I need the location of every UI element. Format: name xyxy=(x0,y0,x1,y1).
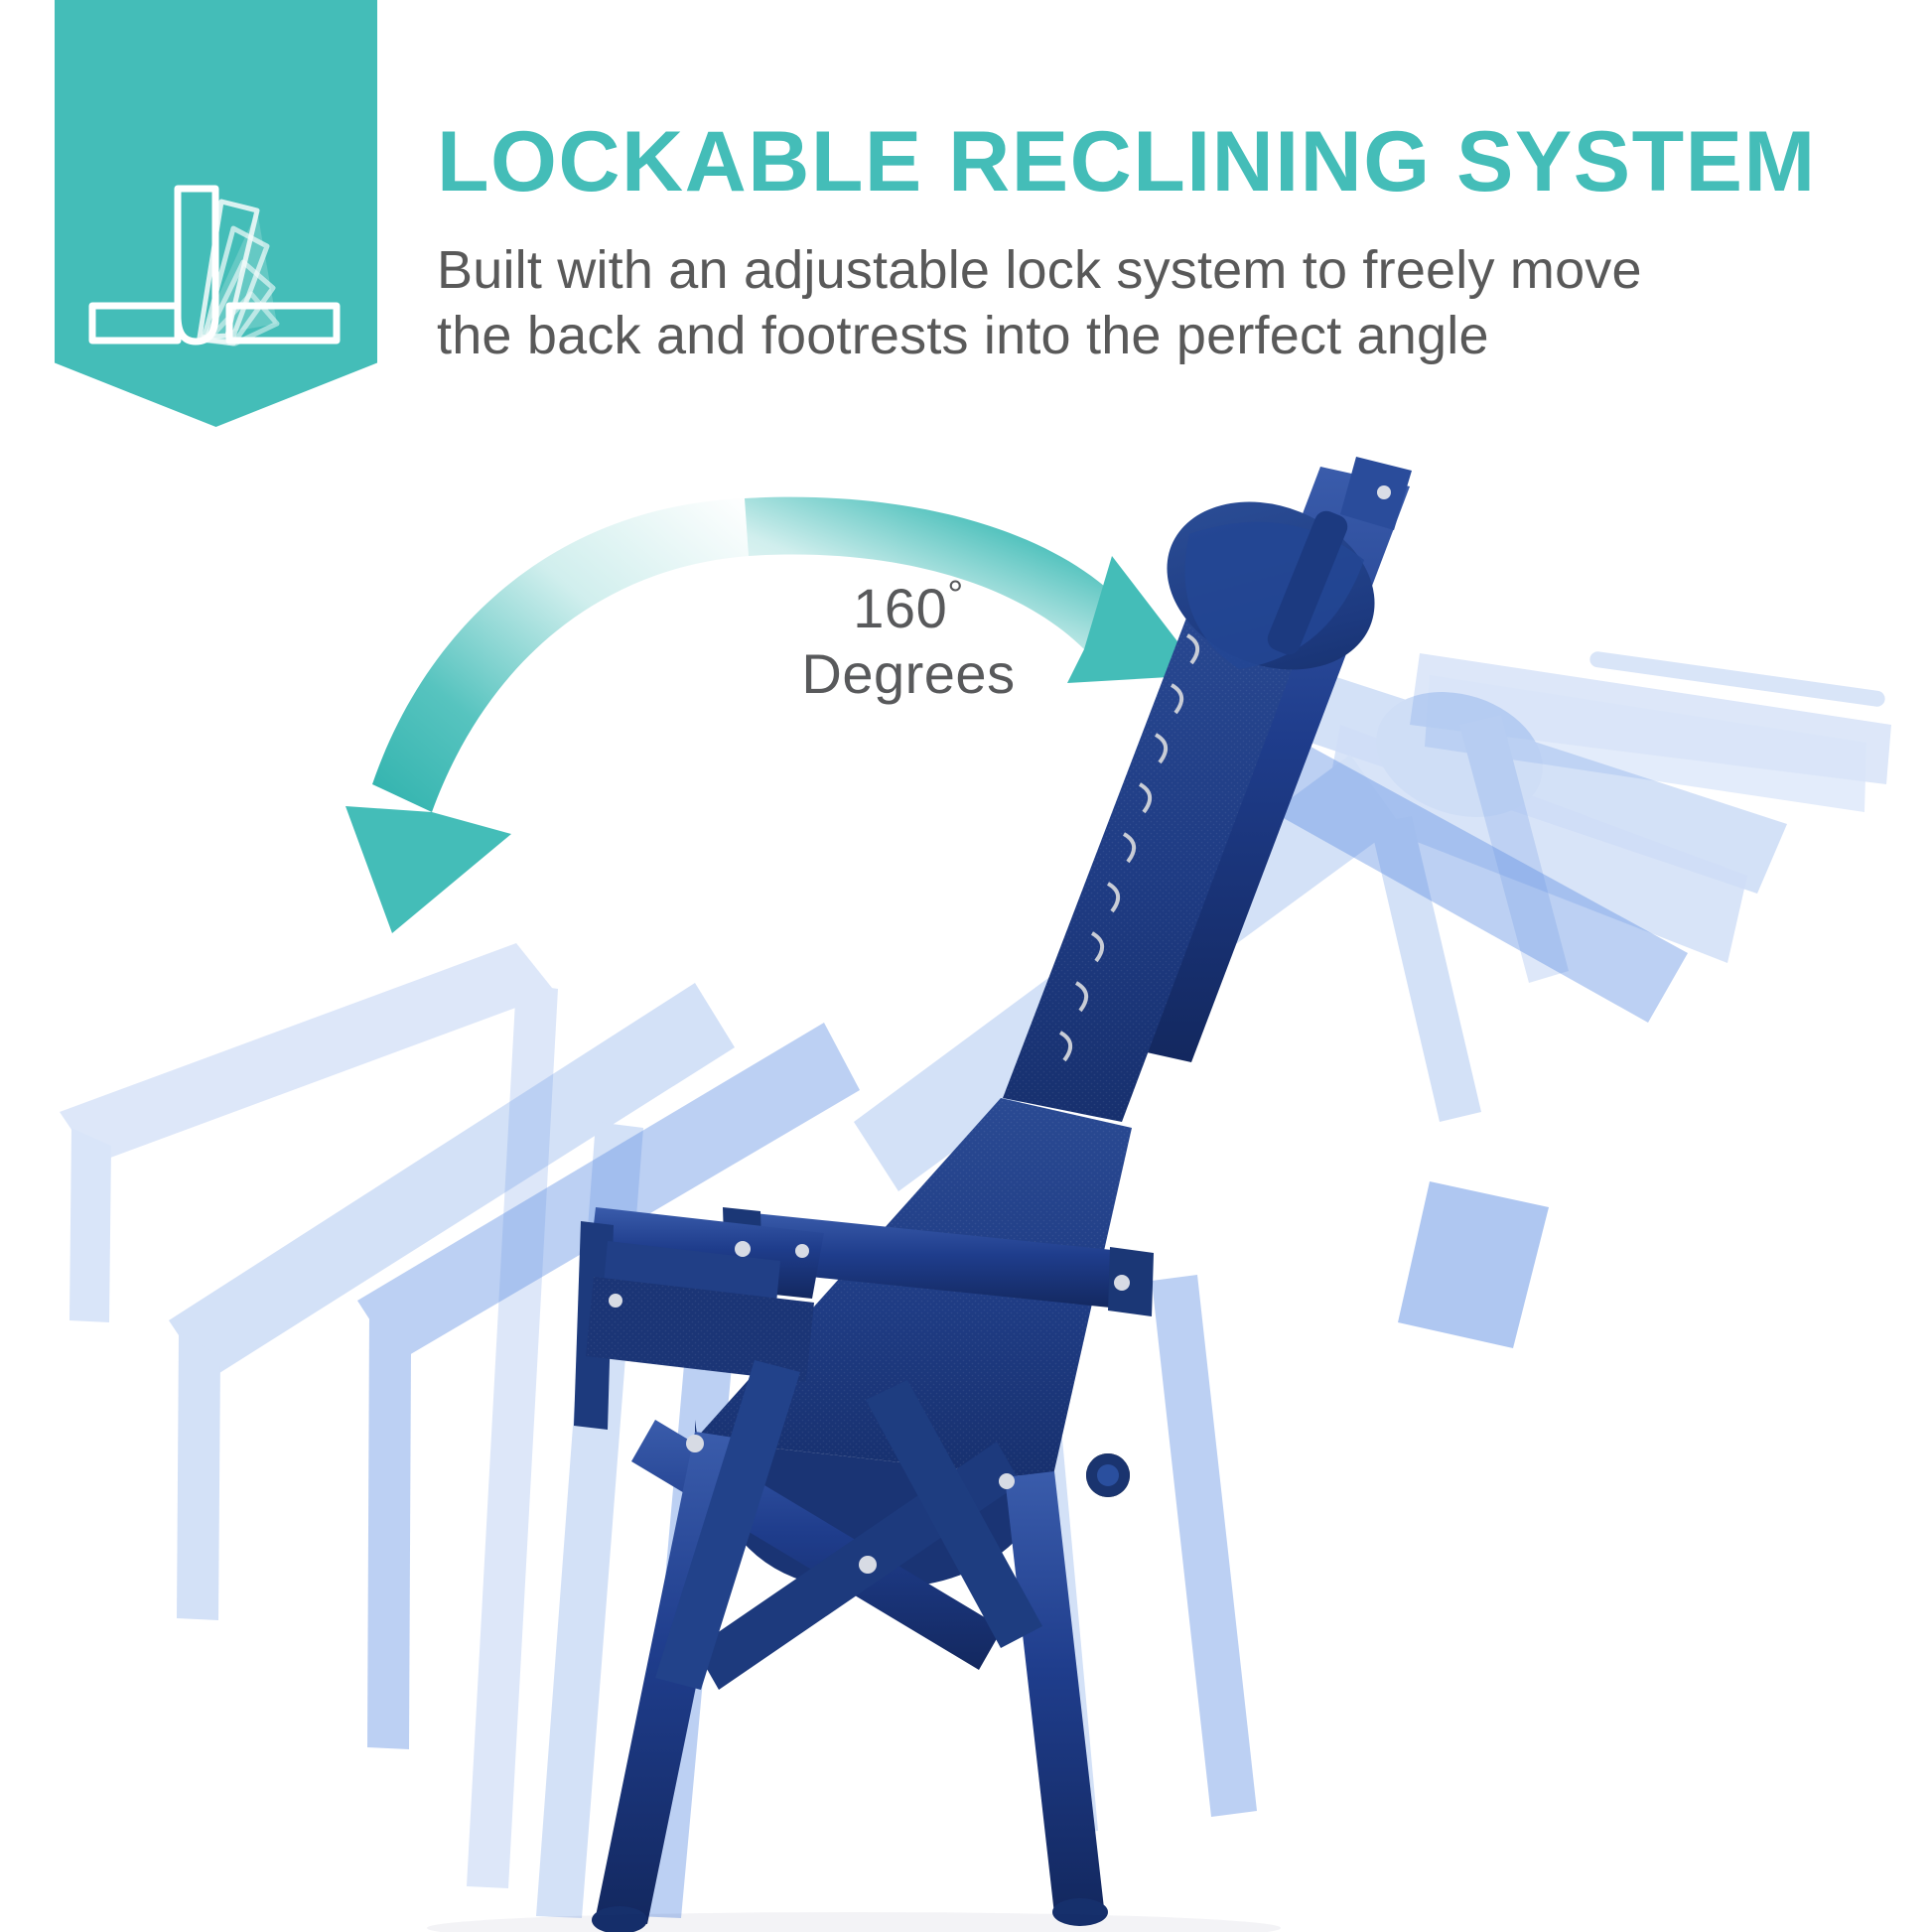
feature-banner xyxy=(55,0,377,427)
product-photo-reclining-chair xyxy=(0,427,1932,1932)
lock-knob xyxy=(1086,1453,1130,1497)
side-pocket-ghost xyxy=(1398,1181,1549,1348)
page-title: LOCKABLE RECLINING SYSTEM xyxy=(437,119,1886,205)
header-text-block: LOCKABLE RECLINING SYSTEM Built with an … xyxy=(437,119,1886,369)
reclining-chair-fan-icon xyxy=(82,167,350,355)
product-position-upright-solid xyxy=(574,457,1549,1932)
subtitle-line-1: Built with an adjustable lock system to … xyxy=(437,238,1886,304)
infographic-canvas: LOCKABLE RECLINING SYSTEM Built with an … xyxy=(0,0,1932,1932)
leg xyxy=(1005,1471,1104,1914)
page-subtitle: Built with an adjustable lock system to … xyxy=(437,238,1886,369)
subtitle-line-2: the back and footrests into the perfect … xyxy=(437,304,1886,369)
rivet xyxy=(1377,485,1391,499)
